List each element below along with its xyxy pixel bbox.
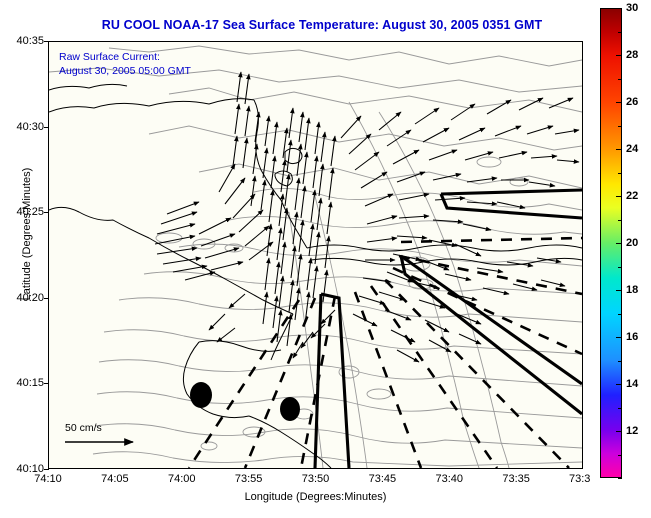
x-tick-label: 73:55 [222, 473, 276, 485]
colorbar-tick-label: 16 [626, 331, 638, 343]
colorbar-tick-mark [616, 196, 622, 197]
colorbar-tick-mark [616, 290, 622, 291]
y-tick-mark [44, 298, 49, 299]
x-tick-label: 74:05 [88, 473, 142, 485]
colorbar-tick-label: 14 [626, 378, 638, 390]
colorbar-tick-label: 24 [626, 143, 638, 155]
colorbar-tick-label: 20 [626, 237, 638, 249]
colorbar-tick-label: 22 [626, 190, 638, 202]
y-tick-mark [44, 127, 49, 128]
colorbar-minor-tick [618, 267, 622, 268]
colorbar-minor-tick [618, 220, 622, 221]
y-tick-mark [44, 383, 49, 384]
colorbar-tick-mark [616, 149, 622, 150]
x-tick-label: 73:40 [422, 473, 476, 485]
x-tick-label: 73:35 [489, 473, 543, 485]
x-axis-label: Longitude (Degrees:Minutes) [48, 491, 583, 503]
y-tick-label: 40:35 [0, 35, 44, 47]
radar-coverage-sectors [49, 42, 582, 468]
x-tick-label: 73:45 [355, 473, 409, 485]
colorbar-minor-tick [618, 455, 622, 456]
colorbar-tick-mark [616, 384, 622, 385]
colorbar-tick-label: 12 [626, 425, 638, 437]
colorbar-minor-tick [618, 314, 622, 315]
colorbar-tick-mark [616, 243, 622, 244]
y-tick-label: 40:15 [0, 377, 44, 389]
colorbar-minor-tick [618, 173, 622, 174]
colorbar-minor-tick [618, 478, 622, 479]
x-tick-label: 73:50 [289, 473, 343, 485]
map-plot-area[interactable]: Raw Surface Current: August 30, 2005 05:… [48, 41, 583, 469]
y-tick-mark [44, 41, 49, 42]
colorbar-minor-tick [618, 361, 622, 362]
colorbar-minor-tick [618, 408, 622, 409]
y-axis-label: Latitude (Degrees:Minutes) [21, 104, 33, 364]
x-tick-label: 74:10 [21, 473, 75, 485]
colorbar-tick-label: 28 [626, 49, 638, 61]
y-tick-mark [44, 469, 49, 470]
colorbar-tick-mark [616, 55, 622, 56]
y-tick-mark [44, 212, 49, 213]
x-tick-label: 74:00 [155, 473, 209, 485]
colorbar-tick-mark [616, 102, 622, 103]
figure-title: RU COOL NOAA-17 Sea Surface Temperature:… [62, 18, 582, 32]
x-axis-ticks: 74:1074:0574:0073:5573:5073:4573:4073:35… [48, 473, 583, 489]
colorbar-minor-tick [618, 79, 622, 80]
colorbar-tick-label: 18 [626, 284, 638, 296]
colorbar-tick-label: 26 [626, 96, 638, 108]
colorbar-tick-mark [616, 431, 622, 432]
colorbar-ticks: 12141618202224262830 [600, 8, 650, 478]
colorbar-tick-mark [616, 337, 622, 338]
colorbar-minor-tick [618, 32, 622, 33]
colorbar-minor-tick [618, 126, 622, 127]
station-markers [190, 382, 300, 421]
colorbar-tick-label: 30 [626, 2, 638, 14]
sst-current-figure: RU COOL NOAA-17 Sea Surface Temperature:… [0, 0, 651, 518]
colorbar-tick-mark [616, 8, 622, 9]
